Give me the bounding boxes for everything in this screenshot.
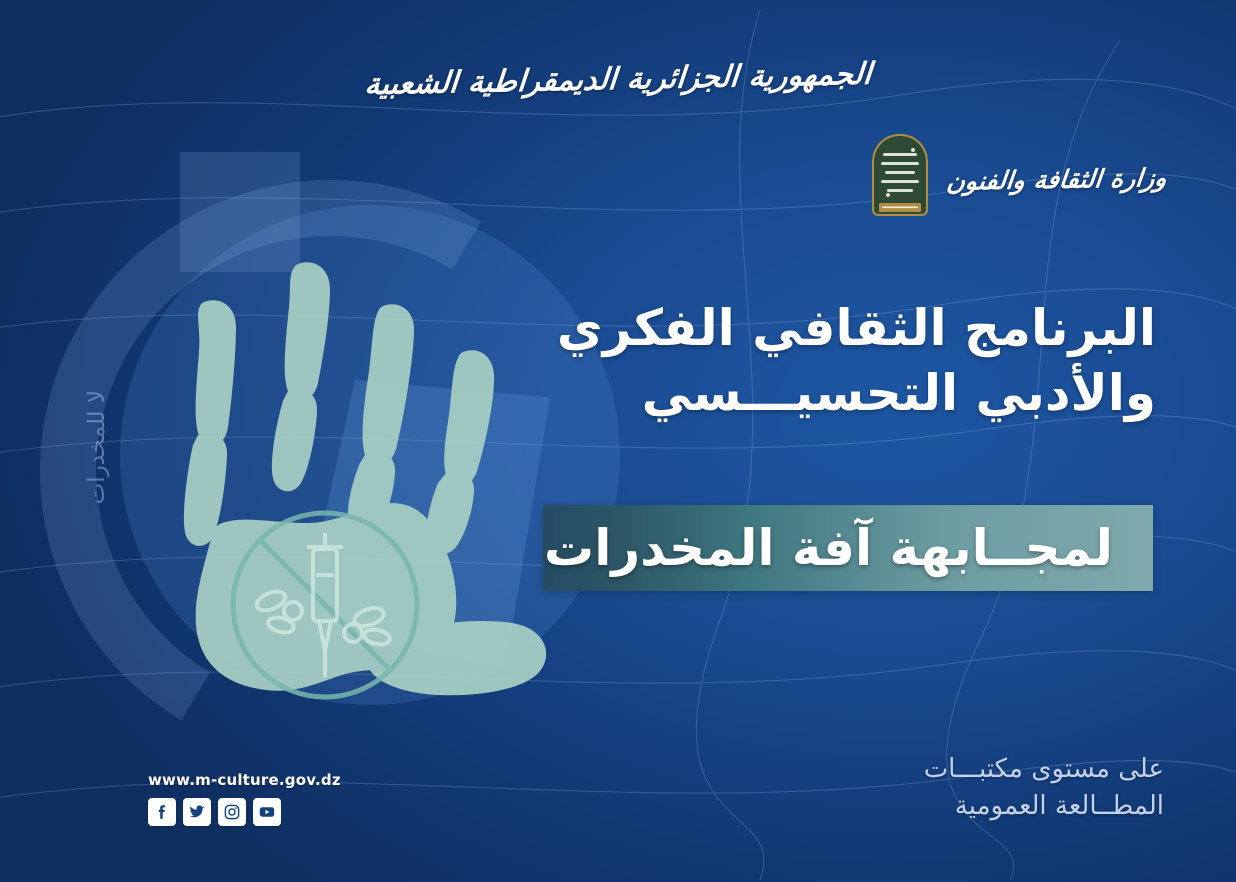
decorative-wedge-shape [300,380,550,670]
instagram-icon[interactable] [218,798,246,826]
vertical-slogan-no-drugs: لا للمخدرات [84,390,264,504]
headline-line-1: البرنامج الثقافي الفكري [516,296,1156,361]
ministry-header: وزارة الثقافة والفنون [869,133,1167,225]
poster-canvas: لا للمخدرات الجمهورية الجزائرية الديمقرا… [0,0,1236,882]
ministry-name-calligraphy: وزارة الثقافة والفنون [945,163,1168,196]
facebook-icon[interactable] [148,798,176,826]
republic-calligraphy-line: الجمهورية الجزائرية الديمقراطية الشعبية [0,49,1236,110]
highlight-subtitle: لمجــابهة آفة المخدرات [544,505,1144,591]
twitter-icon[interactable] [183,798,211,826]
venue-line-1: على مستوى مكتبـــات [924,751,1164,787]
venue-line-2: المطــالعة العمومية [924,788,1164,824]
footer-contact: www.m-culture.gov.dz [148,771,341,826]
ministry-emblem-icon [869,133,931,225]
headline-line-2: والأدبي التحسيـــسي [516,361,1156,426]
website-url[interactable]: www.m-culture.gov.dz [148,771,341,789]
social-links [148,798,341,826]
page-title: البرنامج الثقافي الفكري والأدبي التحسيــ… [516,296,1156,426]
youtube-icon[interactable] [253,798,281,826]
decorative-arc-block [180,152,300,272]
venue-text: على مستوى مكتبـــات المطــالعة العمومية [924,751,1164,824]
